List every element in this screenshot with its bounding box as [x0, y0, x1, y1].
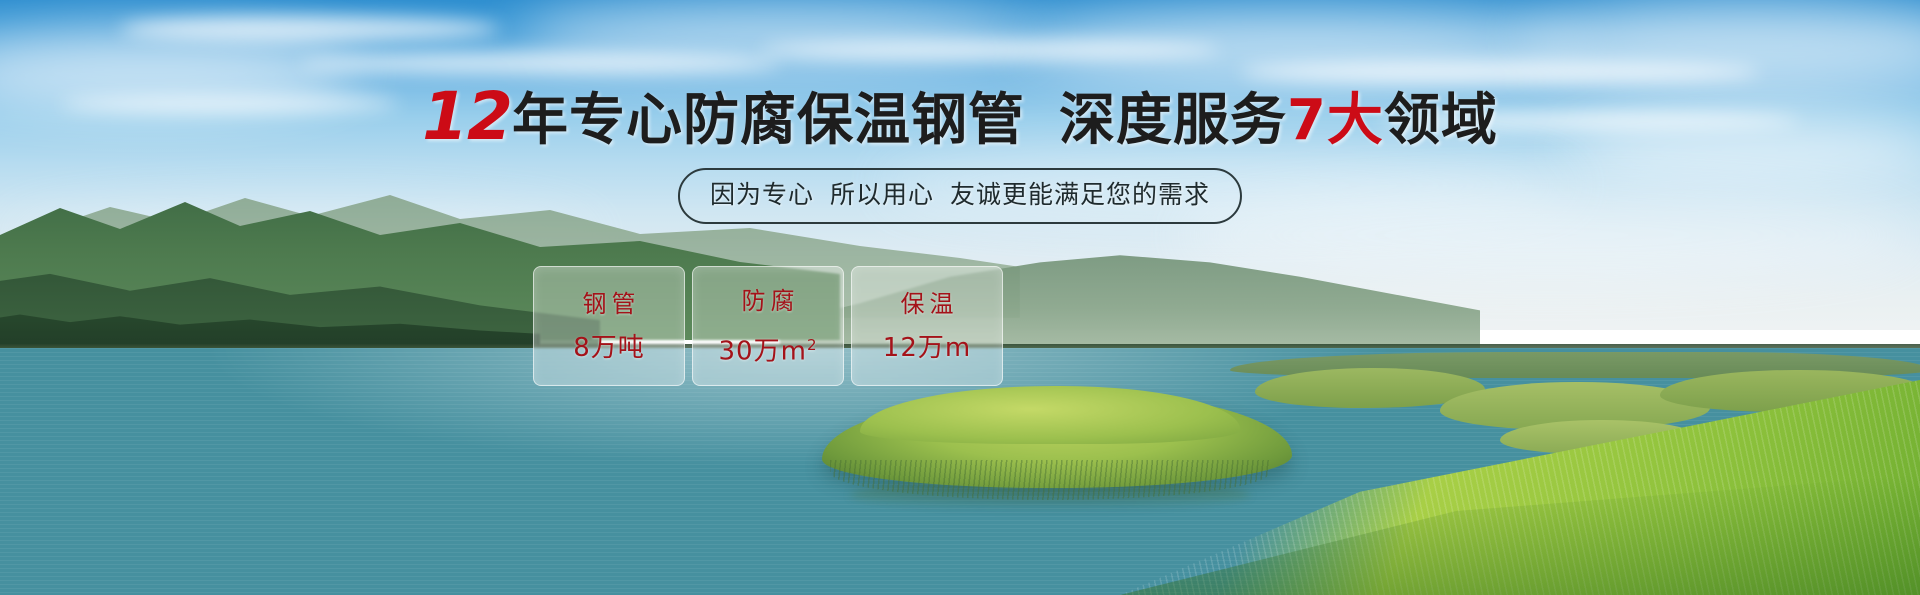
subtitle-segment-3: 友诚更能满足您的需求	[950, 180, 1210, 209]
stat-card-anticorrosion[interactable]: 防腐 30万m2	[692, 266, 844, 386]
stat-card-value-text: 8万吨	[573, 333, 645, 363]
headline-fields-number: 7大	[1287, 88, 1384, 153]
stat-card-value-superscript: 2	[807, 336, 818, 354]
stat-card-steel-pipe[interactable]: 钢管 8万吨	[533, 266, 685, 386]
headline-years-number: 12	[422, 78, 512, 155]
subtitle-pill: 因为专心所以用心友诚更能满足您的需求	[678, 168, 1242, 224]
cloud-shape	[1180, 190, 1920, 280]
stat-card-value: 8万吨	[573, 333, 645, 363]
stat-card-value: 30万m2	[719, 330, 818, 367]
stat-card-label: 保温	[896, 289, 959, 319]
hero-banner: 12年专心防腐保温钢管深度服务7大领域 因为专心所以用心友诚更能满足您的需求 钢…	[0, 0, 1920, 595]
stat-card-value: 12万m	[883, 333, 971, 363]
subtitle-segment-2: 所以用心	[830, 180, 934, 209]
stat-card-value-text: 30万m	[719, 336, 807, 366]
subtitle-segment-1: 因为专心	[710, 180, 814, 209]
stat-card-value-text: 12万m	[883, 333, 971, 363]
stat-card-label: 钢管	[578, 289, 641, 319]
stat-card-label: 防腐	[737, 286, 800, 316]
stat-card-group: 钢管 8万吨 防腐 30万m2 保温 12万m	[533, 266, 1003, 386]
headline-part-2: 深度服务	[1059, 88, 1287, 153]
headline-part-3: 领域	[1384, 88, 1498, 153]
cloud-shape	[120, 16, 500, 42]
stat-card-insulation[interactable]: 保温 12万m	[851, 266, 1003, 386]
headline-part-1: 年专心防腐保温钢管	[512, 88, 1025, 153]
headline: 12年专心防腐保温钢管深度服务7大领域	[0, 86, 1920, 152]
